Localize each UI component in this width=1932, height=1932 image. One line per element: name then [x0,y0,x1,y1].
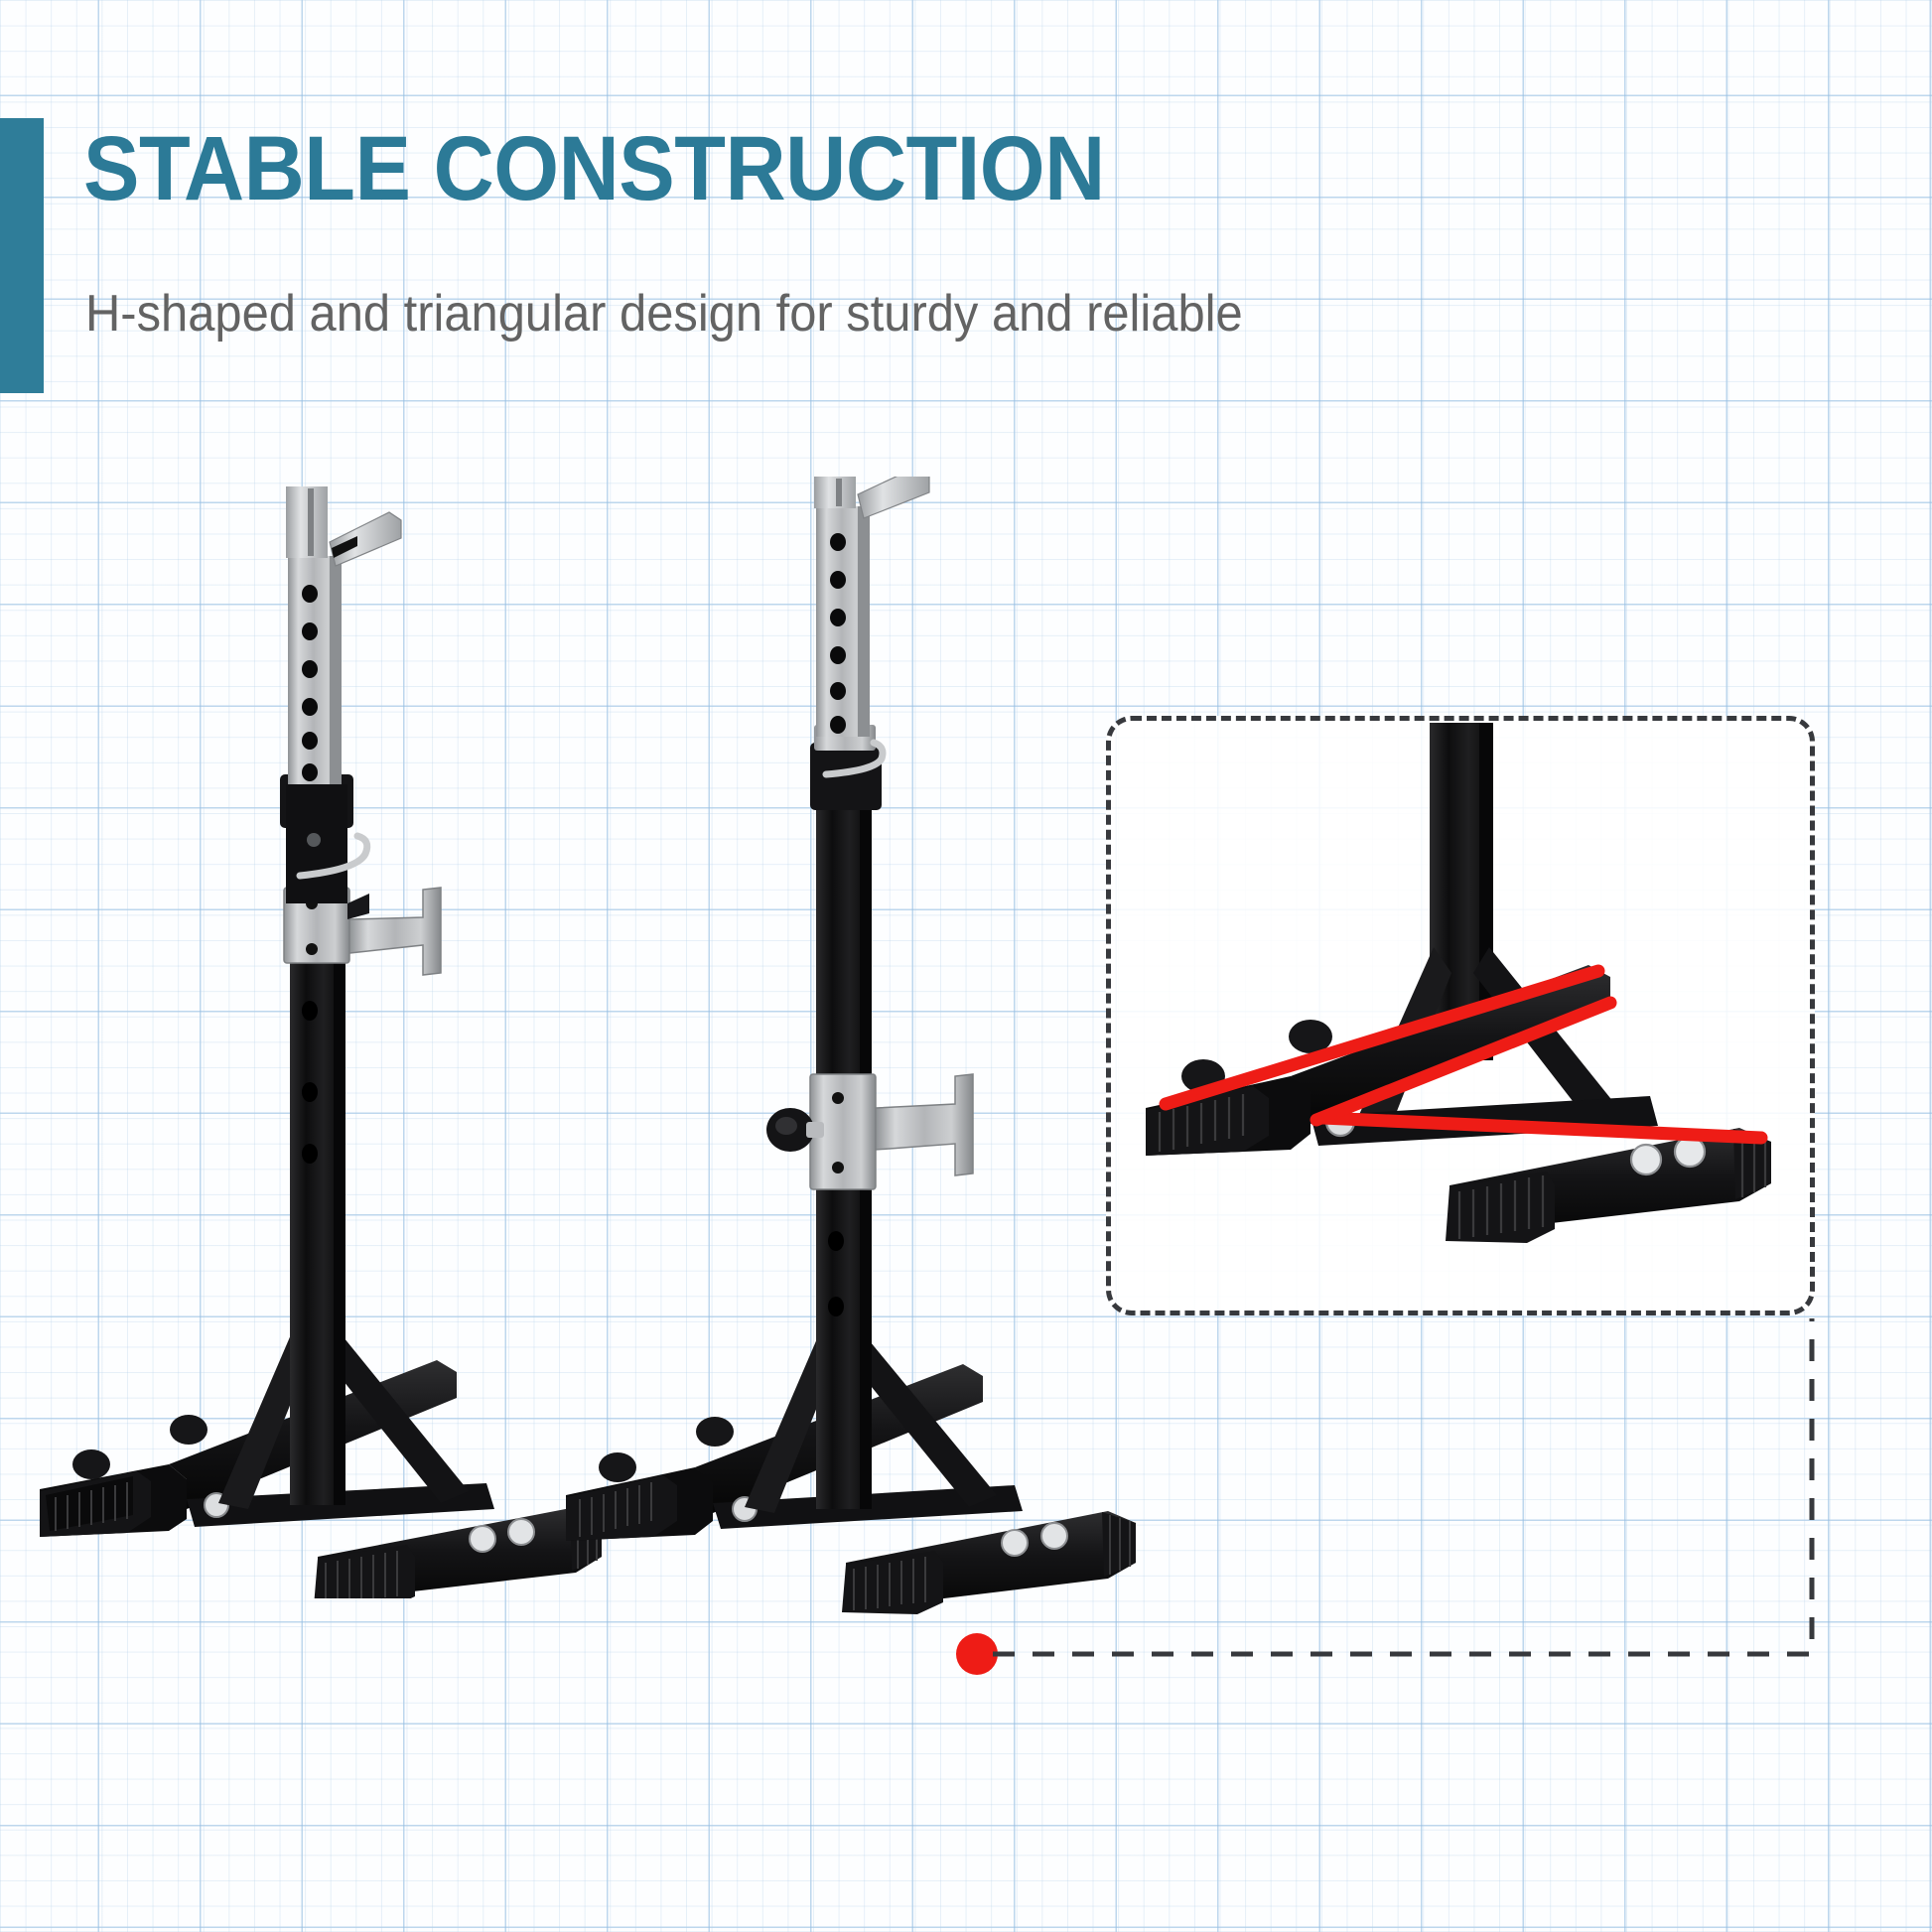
callout-base-detail [1114,723,1809,1311]
saddle-hook [810,1074,973,1189]
page-title: STABLE CONSTRUCTION [83,123,1105,214]
spotter-arm [858,477,929,518]
barbell-hook [286,486,328,558]
barbell-hook [814,477,856,508]
foot-cap [40,1471,151,1537]
callout-connector-line [933,1291,1886,1688]
lock-pin [280,774,367,903]
lock-pin [810,725,883,810]
lower-post [290,949,345,1505]
page-subtitle: H-shaped and triangular design for sturd… [85,288,1243,340]
infographic-page: STABLE CONSTRUCTION H-shaped and triangu… [0,0,1932,1932]
spotter-arm [330,512,401,566]
title-accent-bar [0,118,44,393]
foot-cap [566,1475,677,1541]
upper-post [816,506,870,737]
squat-stand-left [20,486,625,1598]
upper-post [288,556,342,784]
